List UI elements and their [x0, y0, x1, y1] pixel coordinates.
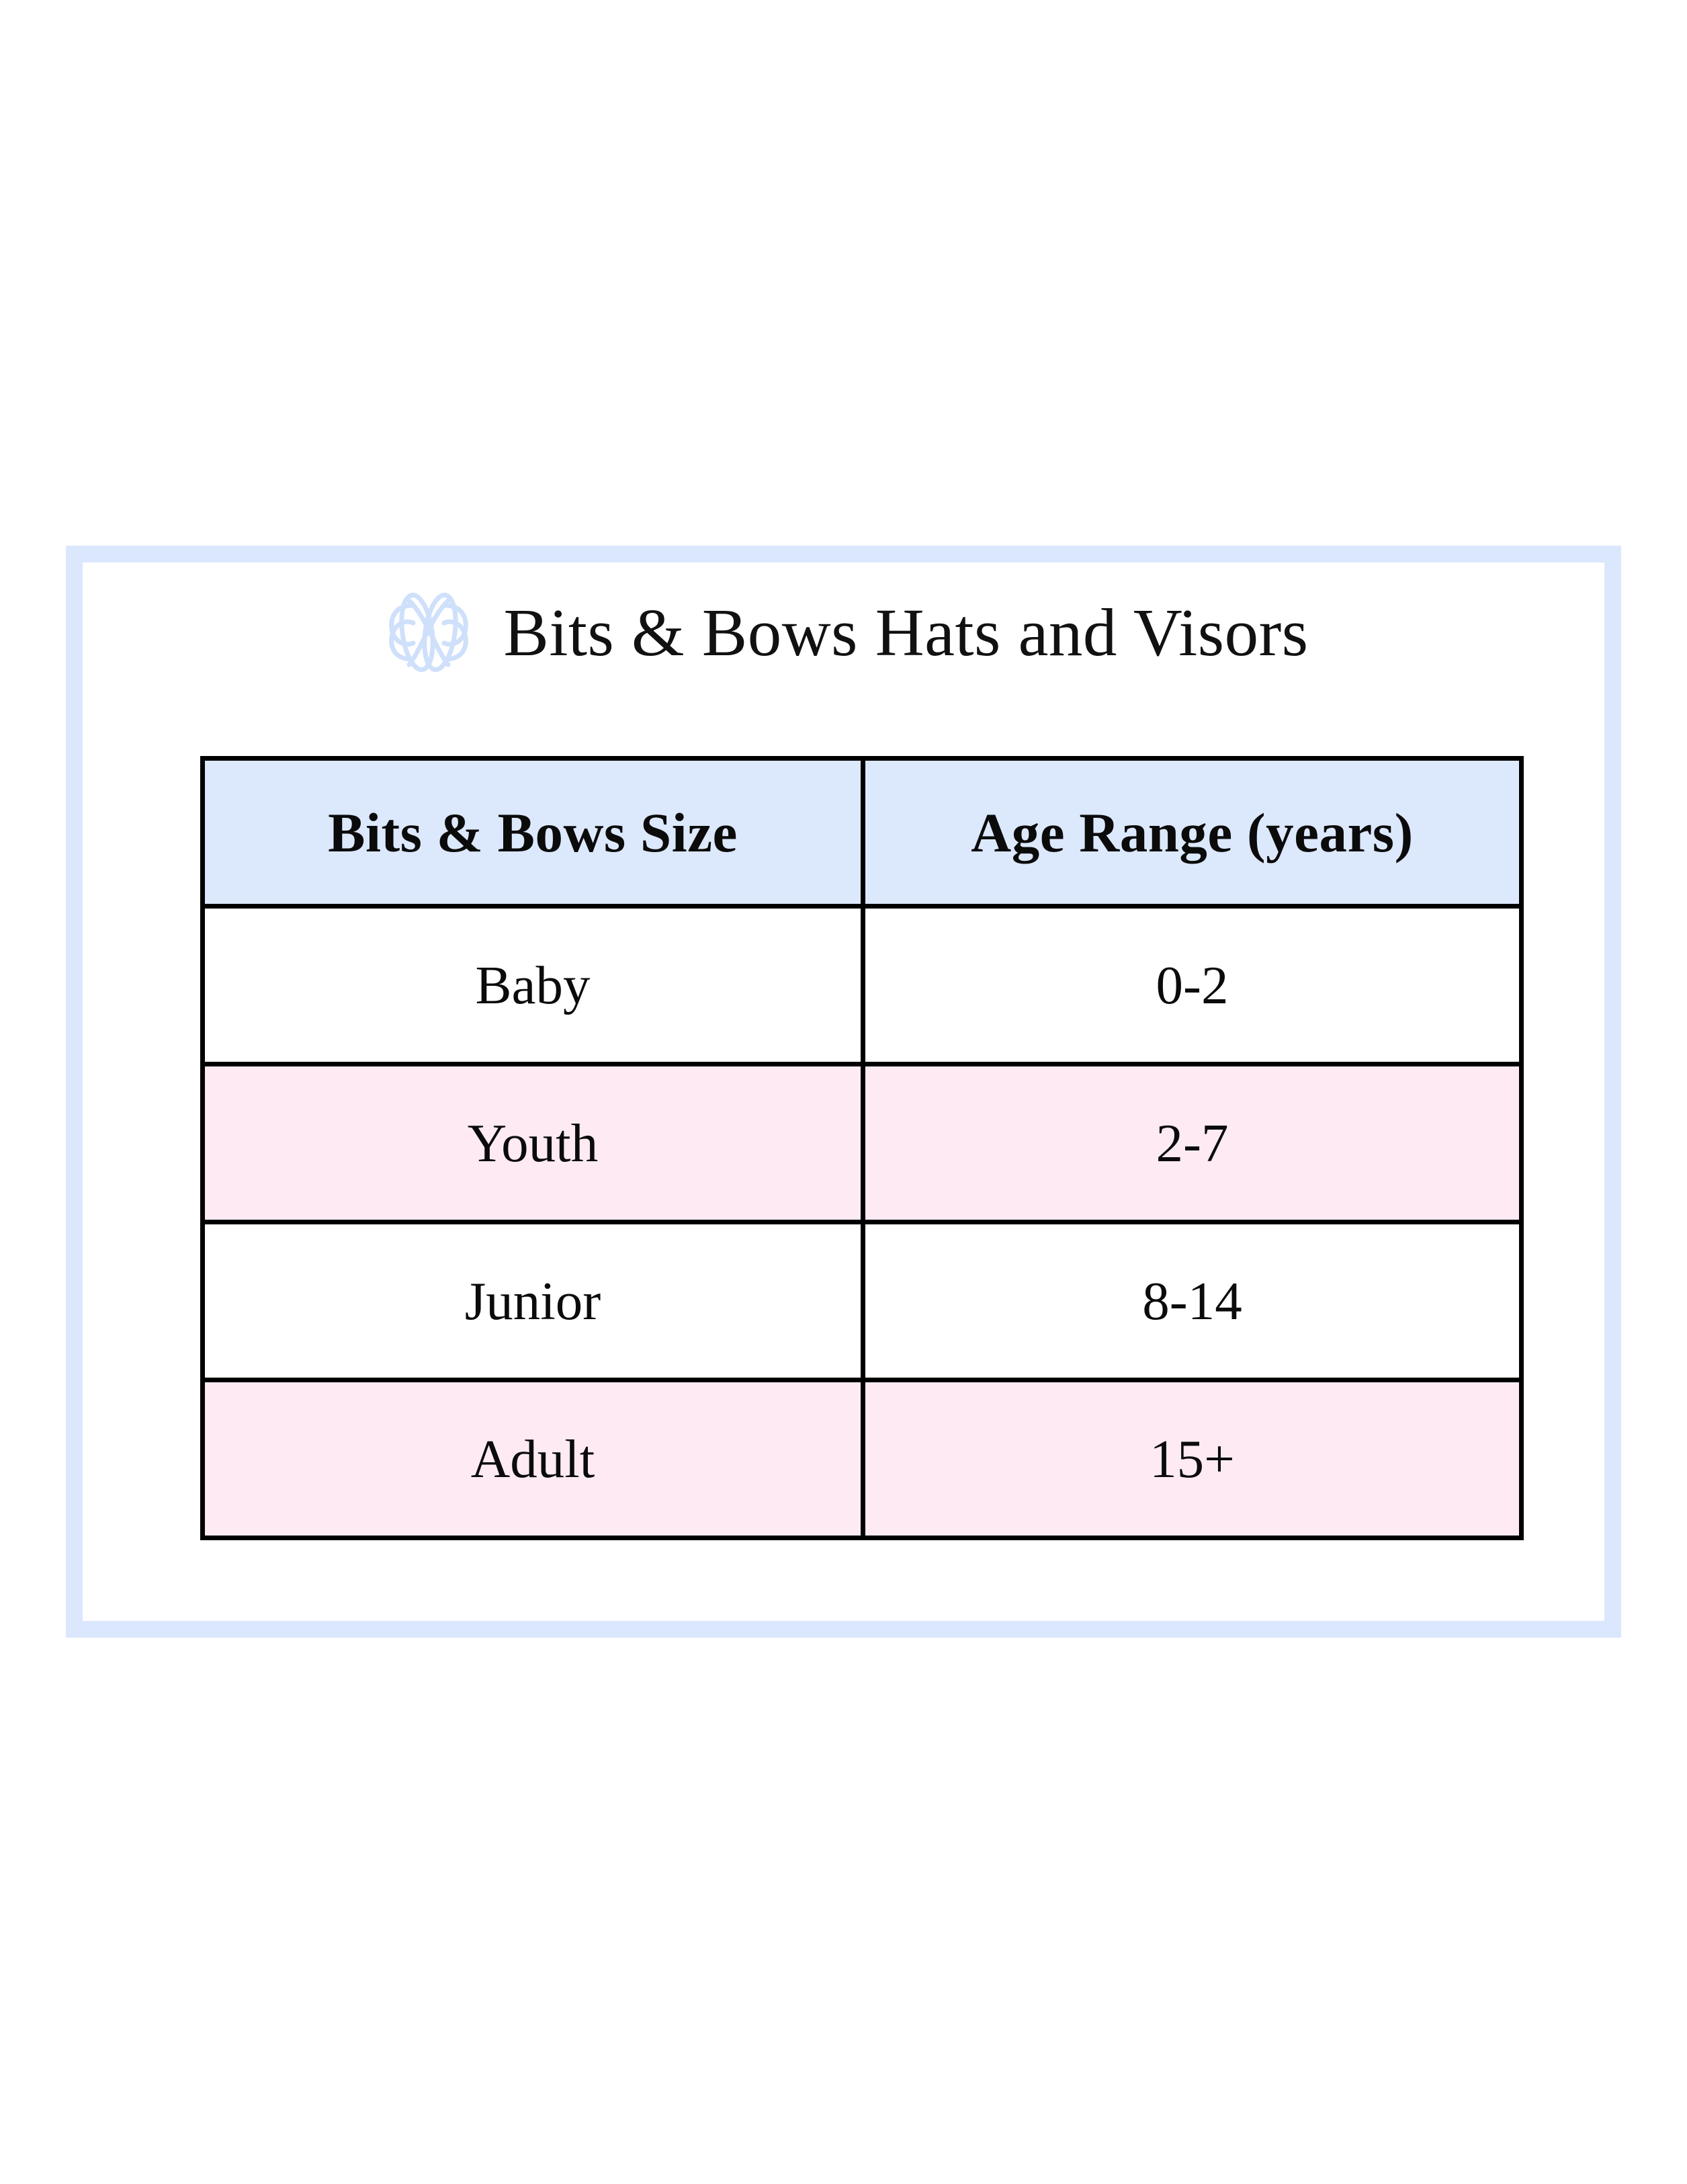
table-row: Youth 2-7 — [203, 1064, 1522, 1222]
cell-age-range: 0-2 — [863, 907, 1522, 1064]
table-body: Baby 0-2 Youth 2-7 Junior 8-14 Adult 15+ — [203, 907, 1522, 1538]
table-header: Bits & Bows Size Age Range (years) — [203, 759, 1522, 907]
table-row: Adult 15+ — [203, 1380, 1522, 1538]
cell-age-range: 15+ — [863, 1380, 1522, 1538]
cell-size: Baby — [203, 907, 863, 1064]
cell-size: Junior — [203, 1222, 863, 1380]
cell-age-range: 2-7 — [863, 1064, 1522, 1222]
decorative-frame: Bits & Bows Hats and Visors Bits & Bows … — [66, 546, 1621, 1638]
cell-size: Adult — [203, 1380, 863, 1538]
title-block: Bits & Bows Hats and Visors — [83, 579, 1604, 686]
size-chart-page: Bits & Bows Hats and Visors Bits & Bows … — [0, 0, 1687, 2184]
column-header-size: Bits & Bows Size — [203, 759, 863, 907]
cell-age-range: 8-14 — [863, 1222, 1522, 1380]
column-header-age-range: Age Range (years) — [863, 759, 1522, 907]
cell-size: Youth — [203, 1064, 863, 1222]
size-chart-table: Bits & Bows Size Age Range (years) Baby … — [200, 756, 1524, 1540]
page-title: Bits & Bows Hats and Visors — [503, 599, 1308, 667]
interlocking-bb-monogram-icon — [378, 585, 479, 679]
table-row: Baby 0-2 — [203, 907, 1522, 1064]
table-row: Junior 8-14 — [203, 1222, 1522, 1380]
table-header-row: Bits & Bows Size Age Range (years) — [203, 759, 1522, 907]
